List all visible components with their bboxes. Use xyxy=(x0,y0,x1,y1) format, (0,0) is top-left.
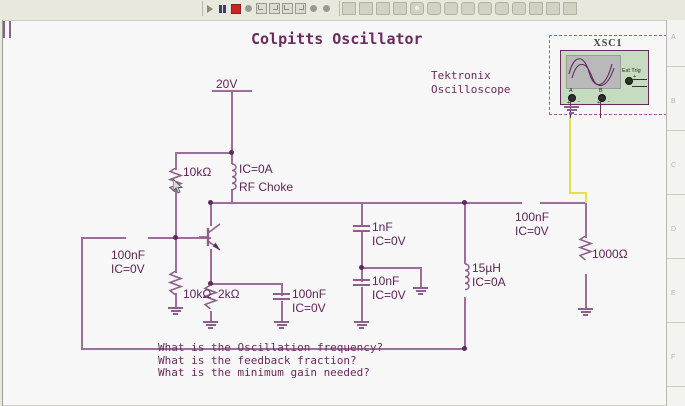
rounded-square-icon[interactable] xyxy=(461,2,475,15)
halt-button[interactable] xyxy=(321,2,332,15)
pause-simulation-button[interactable] xyxy=(217,2,228,15)
wire-tank-gnd-stub xyxy=(420,267,422,287)
wire-tank-top xyxy=(361,202,363,225)
wire-collector-rail xyxy=(210,202,465,204)
stop-simulation-button[interactable] xyxy=(230,2,241,15)
label-c2-ic: IC=0V xyxy=(292,301,326,315)
channel-b-minus: - xyxy=(608,99,610,105)
label-c5-value: 100nF xyxy=(515,210,549,224)
ruler-mark-c: C xyxy=(671,162,676,169)
label-r1-value: 10kΩ xyxy=(183,165,211,179)
npn-transistor-q1-symbol[interactable] xyxy=(199,221,225,253)
record-icon xyxy=(245,5,252,12)
ground-symbol-tank xyxy=(413,287,428,295)
ground-symbol-load xyxy=(578,308,593,316)
capacitor-c3-symbol[interactable] xyxy=(353,225,371,235)
label-c1-value: 100nF xyxy=(111,248,145,262)
junction-collector xyxy=(208,200,213,205)
wire-r3-bottom xyxy=(210,311,212,321)
wire-r1-bottom xyxy=(175,189,177,238)
component-palette-group xyxy=(339,1,578,16)
ruler-mark-b: B xyxy=(671,98,676,105)
inductor-l2-tank-symbol[interactable] xyxy=(459,263,471,291)
resume-icon xyxy=(310,5,317,12)
wire-load-down xyxy=(585,202,587,238)
wire-load-bottom xyxy=(585,274,587,308)
step-back-button[interactable] xyxy=(256,2,267,15)
capacitor-c4-symbol[interactable] xyxy=(353,279,371,289)
square-icon[interactable] xyxy=(376,2,390,15)
ground-symbol-r3 xyxy=(203,321,218,329)
ground-symbol-c2 xyxy=(274,321,289,329)
scope-lead-b xyxy=(600,102,601,118)
pause-icon xyxy=(219,5,226,13)
application-window: Colpitts Oscillator Tektronix Oscillosco… xyxy=(0,0,685,406)
label-c2-value: 100nF xyxy=(292,287,326,301)
channel-a-minus: - xyxy=(578,99,580,105)
rounded-square-icon[interactable] xyxy=(512,2,526,15)
step-forward-icon xyxy=(295,3,306,14)
wire-c1-left xyxy=(81,237,126,239)
square-icon[interactable] xyxy=(563,2,577,15)
step-into-button[interactable] xyxy=(282,2,293,15)
label-r2-value: 10kΩ xyxy=(183,287,211,301)
capacitor-c5-symbol[interactable] xyxy=(3,39,25,57)
junction-tank-mid xyxy=(359,265,364,270)
simulation-control-group xyxy=(202,1,333,16)
label-c1-ic: IC=0V xyxy=(111,262,145,276)
label-c3-ic: IC=0V xyxy=(372,234,406,248)
oscilloscope-body[interactable]: Ext Trig + A + - B + - xyxy=(560,50,649,105)
stop-icon xyxy=(231,4,241,14)
wire-supply-down xyxy=(231,90,233,153)
mouse-cursor-icon xyxy=(173,179,184,194)
square-icon[interactable] xyxy=(529,2,543,15)
wire-tank-mid-to-gnd xyxy=(361,267,421,269)
waveform-trace-icon xyxy=(567,56,620,88)
junction-bottom-rail xyxy=(462,346,467,351)
step-over-button[interactable] xyxy=(269,2,280,15)
square-icon[interactable] xyxy=(359,2,373,15)
wire-supply-to-r1 xyxy=(175,152,233,154)
ruler-mark-f: F xyxy=(671,354,675,361)
wire-emitter-down xyxy=(210,249,212,284)
inductor-l1-rf-choke-symbol[interactable] xyxy=(226,163,238,191)
ground-symbol-c4 xyxy=(354,321,369,329)
resume-button[interactable] xyxy=(308,2,319,15)
step-back-icon xyxy=(256,3,267,14)
halt-icon xyxy=(323,5,330,12)
step-over-icon xyxy=(269,3,280,14)
resistor-r4-load-symbol[interactable] xyxy=(578,236,593,260)
junction-base xyxy=(173,235,178,240)
label-l2-value: 15µH xyxy=(472,261,501,275)
ground-symbol-r2 xyxy=(168,307,183,315)
label-c4-value: 10nF xyxy=(372,274,399,288)
play-icon xyxy=(207,5,213,13)
label-c4-ic: IC=0V xyxy=(372,288,406,302)
wire-c2-bottom xyxy=(281,301,283,321)
schematic-canvas[interactable]: Colpitts Oscillator Tektronix Oscillosco… xyxy=(2,20,667,406)
run-simulation-button[interactable] xyxy=(204,2,215,15)
questions-text: What is the Oscillation frequency? What … xyxy=(158,342,383,380)
capacitor-c2-symbol[interactable] xyxy=(273,293,291,303)
ext-trig-pin-top xyxy=(632,79,647,80)
wire-c1-right xyxy=(148,237,176,239)
square-icon[interactable] xyxy=(342,2,356,15)
label-l1-ic: IC=0A xyxy=(239,162,273,176)
ruler-mark-d: D xyxy=(671,226,676,233)
step-forward-button[interactable] xyxy=(295,2,306,15)
probe-wire-vertical xyxy=(569,115,571,193)
label-c3-value: 1nF xyxy=(372,220,393,234)
label-c5-ic: IC=0V xyxy=(515,224,549,238)
ext-trig-label: Ext Trig xyxy=(622,68,641,74)
square-target-icon[interactable] xyxy=(410,2,424,15)
probe-wire-horizontal xyxy=(569,192,586,194)
ruler-mark-a: A xyxy=(671,34,676,41)
wire-r2-bottom xyxy=(175,293,177,307)
wire-cap-to-load xyxy=(540,202,586,204)
junction-supply xyxy=(229,150,234,155)
wire-emitter-rail xyxy=(210,283,282,285)
oscilloscope-note: Tektronix Oscilloscope xyxy=(431,69,510,97)
wire-tank-inductor-top xyxy=(464,202,466,264)
junction-tank-rail xyxy=(462,200,467,205)
label-r4-value: 1000Ω xyxy=(592,247,628,261)
square-icon[interactable] xyxy=(393,2,407,15)
capacitor-c1-symbol[interactable] xyxy=(3,21,25,39)
resistor-r2-symbol[interactable] xyxy=(168,271,183,295)
square-icon[interactable] xyxy=(546,2,560,15)
canvas-left-edge xyxy=(2,20,3,406)
ruler-mark-e: E xyxy=(671,290,676,297)
label-supply-voltage: 20V xyxy=(216,77,237,91)
rounded-square-icon[interactable] xyxy=(427,2,441,15)
ext-trig-pin-bottom xyxy=(632,86,647,87)
wire-c3-bottom xyxy=(361,231,363,268)
label-l2-ic: IC=0A xyxy=(472,275,506,289)
rounded-square-icon[interactable] xyxy=(478,2,492,15)
oscilloscope-ref-label: XSC1 xyxy=(550,38,666,49)
record-button[interactable] xyxy=(243,2,254,15)
wire-r2-top xyxy=(175,237,177,273)
vertical-ruler: A B C D E F xyxy=(666,20,685,406)
step-into-icon xyxy=(282,3,293,14)
wire-tank-inductor-bottom xyxy=(464,297,466,348)
rounded-square-icon[interactable] xyxy=(444,2,458,15)
rounded-square-icon[interactable] xyxy=(495,2,509,15)
simulation-toolbar xyxy=(0,0,685,17)
oscilloscope-screen xyxy=(566,55,621,89)
probe-wire-drop xyxy=(585,192,587,203)
label-l1-name: RF Choke xyxy=(239,180,293,194)
wire-feedback-left xyxy=(81,237,83,349)
wire-c4-bottom xyxy=(361,287,363,321)
label-r3-value: 2kΩ xyxy=(218,287,240,301)
oscilloscope-instrument[interactable]: XSC1 Ext Trig + A + - xyxy=(549,35,667,115)
schematic-title: Colpitts Oscillator xyxy=(251,30,423,48)
wire-output-to-cap xyxy=(464,202,522,204)
ground-symbol-scope xyxy=(564,106,579,114)
